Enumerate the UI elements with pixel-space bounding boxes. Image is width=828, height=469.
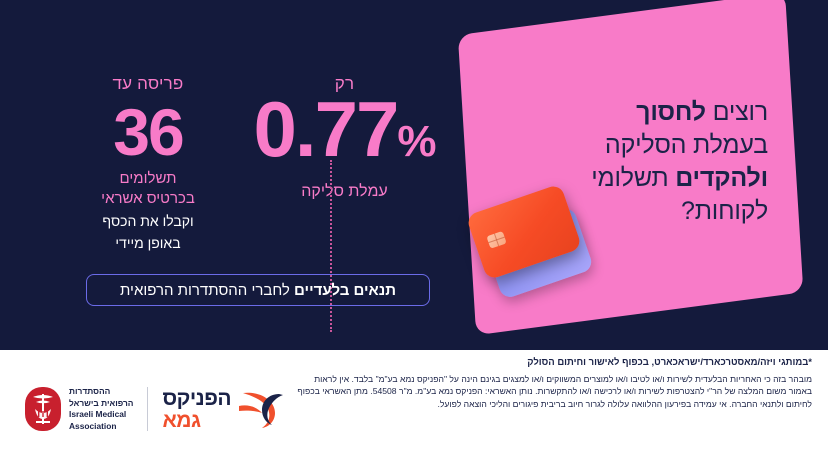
ima-english-line-2: Association (69, 421, 133, 433)
exclusive-terms-button[interactable]: תנאים בלעדיים לחברי ההסתדרות הרפואית (86, 274, 430, 306)
headline-line-2: בעמלת הסליקה (605, 131, 768, 159)
headline-line-3: ולהקדים תשלומי (591, 164, 768, 192)
logo-separator (147, 387, 148, 431)
cta-bold-text: תנאים בלעדיים (294, 282, 396, 299)
stat-rate-unit: % (397, 117, 435, 166)
footer-section: *במותגי ויזה/מאסטרכארד/ישראכארט, בכפוף ל… (0, 350, 828, 469)
headline-line-3-bold: ולהקדים (675, 164, 768, 192)
stat-rate-label: עמלת סליקה (237, 183, 452, 201)
headline-line-1: רוצים לחסוך (636, 98, 768, 126)
cta-regular-text: לחברי ההסתדרות הרפואית (120, 282, 294, 299)
phoenix-bird-icon (235, 385, 287, 433)
stat-rate-number: 0.77 (254, 85, 398, 173)
logo-group: הפניקס גמא ההסתדרות הרפואית בישראל Israe… (24, 378, 287, 440)
disclaimer-title: *במותגי ויזה/מאסטרכארד/ישראכארט, בכפוף ל… (296, 356, 812, 370)
stat-installments-label-1: תשלומים (63, 170, 233, 188)
headline-line-1-regular: רוצים (706, 98, 768, 126)
stats-group: רק 0.77% עמלת סליקה פריסה עד 36 תשלומים … (55, 74, 455, 249)
stat-installments-label-2: בכרטיס אשראי (63, 190, 233, 208)
stat-installments-eyebrow: פריסה עד (63, 74, 233, 94)
ima-emblem-icon (24, 386, 62, 432)
gama-name: גמא (162, 410, 200, 431)
phoenix-gama-logo: הפניקס גמא (162, 385, 287, 433)
stat-installments-note-1: וקבלו את הכסף (63, 213, 233, 230)
israeli-medical-association-logo: ההסתדרות הרפואית בישראל Israeli Medical … (24, 386, 133, 432)
ima-wordmark: ההסתדרות הרפואית בישראל Israeli Medical … (69, 386, 133, 432)
legal-disclaimer: *במותגי ויזה/מאסטרכארד/ישראכארט, בכפוף ל… (296, 356, 812, 410)
stat-rate-value: 0.77% (237, 92, 452, 179)
stat-installments: פריסה עד 36 תשלומים בכרטיס אשראי וקבלו א… (63, 74, 233, 252)
ima-english-line-1: Israeli Medical (69, 409, 133, 421)
headline-line-3-regular: תשלומי (591, 164, 675, 192)
stat-commission-rate: רק 0.77% עמלת סליקה (237, 74, 452, 201)
phoenix-wordmark: הפניקס גמא (162, 388, 231, 431)
hero-section: רוצים לחסוך בעמלת הסליקה ולהקדים תשלומי … (0, 0, 828, 350)
disclaimer-body: מובהר בזה כי האחריות הבלעדית לשירות ו/או… (296, 373, 812, 410)
headline-line-1-bold: לחסוך (636, 98, 706, 126)
stat-installments-note-2: באופן מיידי (63, 235, 233, 252)
ima-hebrew-line-2: הרפואית בישראל (69, 398, 133, 410)
stat-installments-value: 36 (63, 96, 233, 168)
ima-hebrew-line-1: ההסתדרות (69, 386, 133, 398)
phoenix-name: הפניקס (162, 388, 231, 409)
advertisement-banner: רוצים לחסוך בעמלת הסליקה ולהקדים תשלומי … (0, 0, 828, 469)
card-chip-icon (486, 231, 506, 249)
headline-line-4: לקוחות? (681, 197, 768, 225)
credit-cards-illustration (470, 196, 620, 306)
